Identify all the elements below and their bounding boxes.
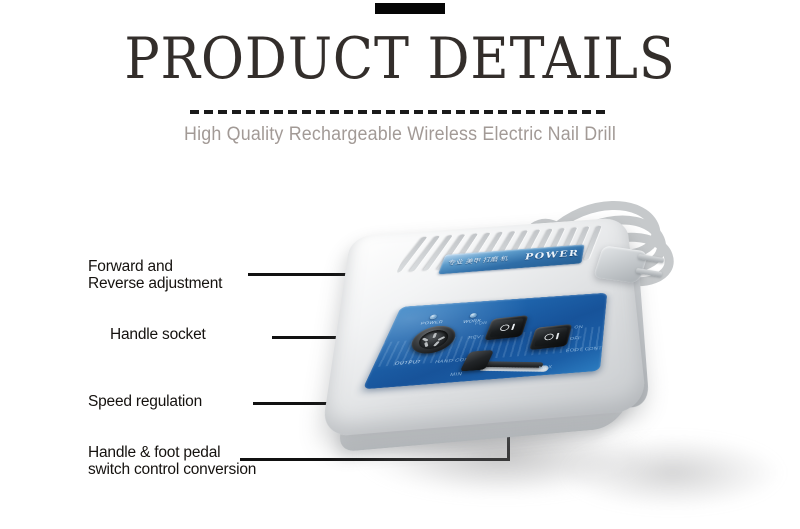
switch-on-symbol-icon xyxy=(555,333,559,340)
panel-label-speed-min: MIN xyxy=(449,372,463,378)
panel-label-on: ON xyxy=(574,325,583,330)
page-subtitle: High Quality Rechargeable Wireless Elect… xyxy=(24,124,776,146)
socket-pin xyxy=(433,341,440,347)
callout-line-1: Speed regulation xyxy=(88,393,202,410)
callout-line-2: Reverse adjustment xyxy=(88,275,222,292)
socket-pin xyxy=(437,336,445,341)
switch-off-symbol-icon xyxy=(499,324,510,331)
socket-pin xyxy=(432,333,437,338)
callout-label-forward-reverse: Forward and Reverse adjustment xyxy=(88,258,222,292)
callout-line-2: switch control conversion xyxy=(88,461,256,478)
socket-inner xyxy=(416,329,451,350)
callout-label-handle-socket: Handle socket xyxy=(110,326,206,343)
callout-line-1: Forward and xyxy=(88,258,222,275)
speed-slider-arm[interactable] xyxy=(479,361,544,368)
switch-off-symbol-icon xyxy=(543,333,554,340)
rocker-face xyxy=(534,327,568,347)
page-title: PRODUCT DETAILS xyxy=(32,28,768,90)
callout-label-speed-regulation: Speed regulation xyxy=(88,393,202,410)
nameplate-cjk-text: 专业 美甲 打磨 机 xyxy=(447,254,509,267)
socket-pin xyxy=(424,342,428,348)
rocker-face xyxy=(489,318,524,337)
nameplate-brand-text: POWER xyxy=(524,248,580,262)
callout-line-1: Handle & foot pedal xyxy=(88,444,256,461)
callout-line-1: Handle socket xyxy=(110,326,206,343)
product-details-banner: PRODUCT DETAILS High Quality Rechargeabl… xyxy=(0,0,800,529)
dashed-divider xyxy=(190,110,610,114)
switch-on-symbol-icon xyxy=(511,324,515,330)
header-top-rule xyxy=(375,3,445,14)
callout-label-handle-foot-pedal: Handle & foot pedal switch control conve… xyxy=(88,444,256,478)
nail-drill-device: 专业 美甲 打磨 机 POWER POWER WORK xyxy=(320,185,680,485)
panel-label-speed-max: MAX xyxy=(538,365,553,371)
